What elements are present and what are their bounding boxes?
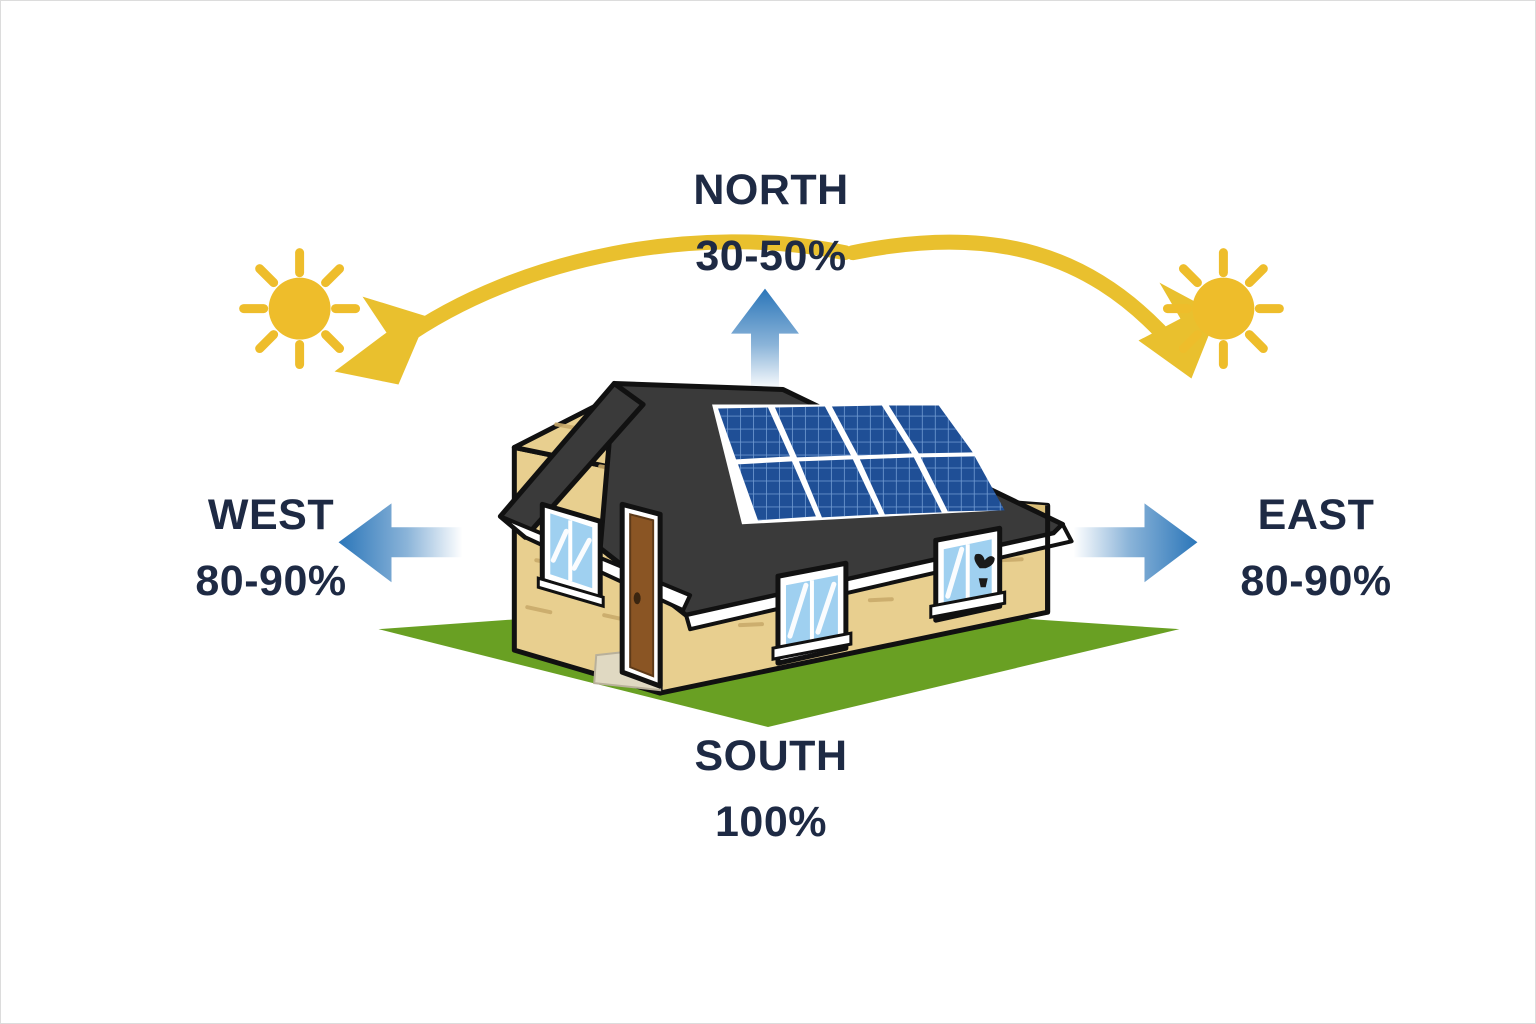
diagram-canvas: NORTH 30-50% EAST 80-90% SOUTH 100% WEST… <box>0 0 1536 1024</box>
sun-icon-west <box>244 253 356 365</box>
window-left <box>538 504 603 606</box>
direction-value-north: 30-50% <box>621 229 921 285</box>
direction-name-south: SOUTH <box>641 729 901 785</box>
direction-value-south: 100% <box>641 795 901 851</box>
arrow-right-icon <box>1074 503 1198 582</box>
direction-value-west: 80-90% <box>151 554 391 610</box>
direction-value-east: 80-90% <box>1191 554 1441 610</box>
front-door <box>630 514 653 676</box>
direction-label-west: WEST 80-90% <box>151 488 391 610</box>
direction-label-south: SOUTH 100% <box>641 729 901 851</box>
window-right-2 <box>931 528 1005 620</box>
window-right-1 <box>773 563 851 663</box>
direction-label-north: NORTH 30-50% <box>621 163 921 285</box>
direction-name-east: EAST <box>1191 488 1441 544</box>
arrow-up-icon <box>731 289 799 391</box>
direction-name-west: WEST <box>151 488 391 544</box>
solar-panel-array <box>712 404 1005 524</box>
door-handle-icon <box>634 592 641 604</box>
sun-icon-east <box>1167 253 1279 365</box>
direction-name-north: NORTH <box>621 163 921 219</box>
direction-label-east: EAST 80-90% <box>1191 488 1441 610</box>
